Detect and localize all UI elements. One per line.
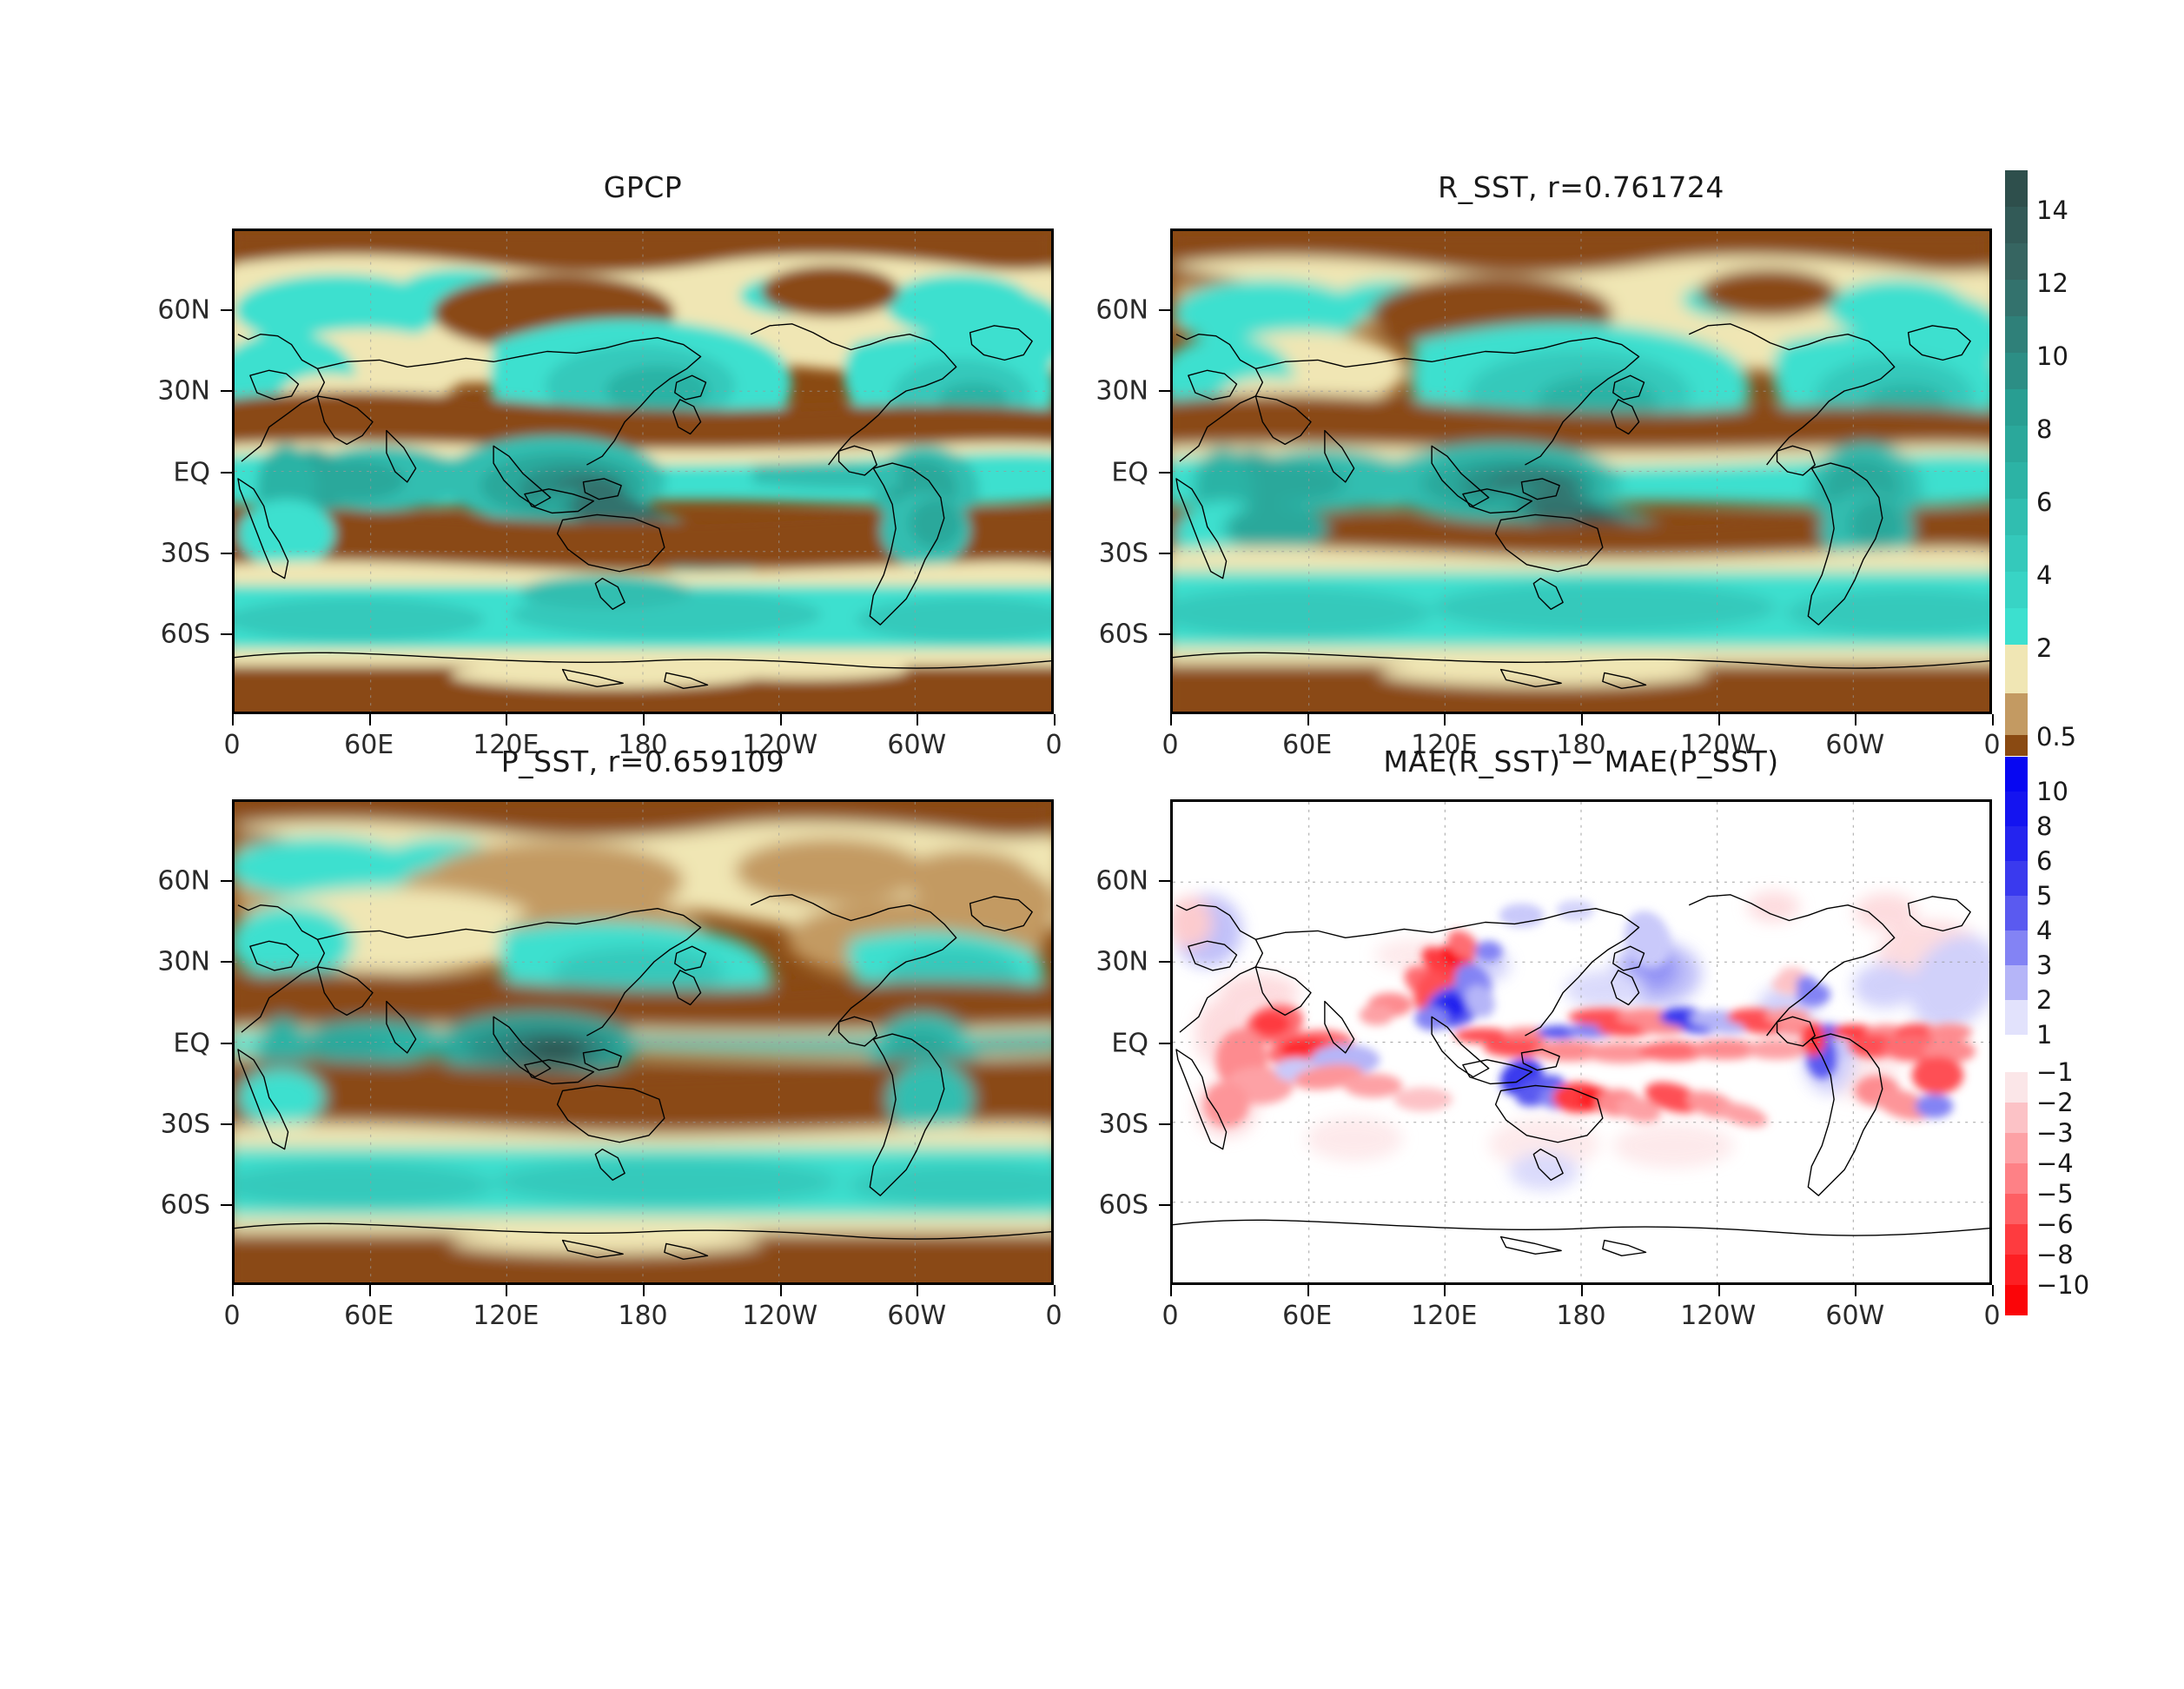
- ytick: [1159, 472, 1170, 474]
- cbar-seg-pos: [2005, 861, 2028, 896]
- cbar-seg-neg: [2005, 1133, 2028, 1163]
- ytick: [221, 961, 232, 963]
- xtick: [1581, 714, 1583, 725]
- cbar-seg-neg: [2005, 1255, 2028, 1285]
- xtick: [1581, 1285, 1583, 1296]
- cbar-seg-pos: [2005, 1000, 2028, 1035]
- xtick: [506, 714, 507, 725]
- xlabel-120e: 120E: [1411, 1301, 1477, 1331]
- map-mae-diff: [1170, 799, 1992, 1285]
- xlabel-360: 0: [1983, 1301, 2000, 1331]
- xtick: [1855, 1285, 1856, 1296]
- cbar-label-pos-10: 10: [2036, 777, 2068, 806]
- cbar-label-4: 4: [2036, 560, 2052, 590]
- ylabel-30s: 30S: [113, 539, 210, 569]
- cbar-seg-neg: [2005, 1163, 2028, 1194]
- ylabel-30n: 30N: [113, 376, 210, 407]
- ylabel-60s: 60S: [113, 619, 210, 650]
- cbar-label-neg-6: −6: [2036, 1209, 2074, 1239]
- cbar-label-6: 6: [2036, 487, 2052, 517]
- ytick: [221, 633, 232, 635]
- xtick: [780, 714, 782, 725]
- ylabel-eq: EQ: [113, 1028, 210, 1058]
- colorbar-diff: 10 8 6 5 4 3 2 1 −1 −2 −3 −4 −5 −6 −8 −1…: [2005, 757, 2028, 1315]
- xlabel-180: 180: [618, 1301, 667, 1331]
- cbar-seg: [2005, 207, 2028, 243]
- ytick: [221, 309, 232, 311]
- cbar-seg-neg: [2005, 1194, 2028, 1224]
- ytick: [221, 390, 232, 392]
- cbar-label-12: 12: [2036, 268, 2068, 298]
- ylabel-60s: 60S: [113, 1190, 210, 1221]
- cbar-label-neg-3: −3: [2036, 1118, 2074, 1148]
- xtick: [232, 1285, 234, 1296]
- cbar-label-neg-10: −10: [2036, 1270, 2089, 1300]
- xtick: [1444, 714, 1446, 725]
- cbar-seg-neg: [2005, 1285, 2028, 1315]
- ytick: [221, 1043, 232, 1044]
- cbar-seg-pos: [2005, 792, 2028, 826]
- xtick: [232, 714, 234, 725]
- map-r-sst: [1170, 229, 1992, 714]
- ytick: [1159, 553, 1170, 554]
- cbar-seg-neg: [2005, 1072, 2028, 1103]
- xlabel-60w: 60W: [1825, 1301, 1884, 1331]
- panel-p-sst-title: P_SST, r=0.659109: [232, 745, 1054, 778]
- cbar-seg: [2005, 608, 2028, 645]
- ytick: [221, 1123, 232, 1125]
- ytick: [1159, 309, 1170, 311]
- cbar-label-pos-4: 4: [2036, 916, 2052, 945]
- ytick: [221, 1204, 232, 1206]
- ytick: [1159, 1123, 1170, 1125]
- ylabel-eq: EQ: [113, 457, 210, 487]
- cbar-label-pos-1: 1: [2036, 1020, 2052, 1050]
- xlabel-120e: 120E: [473, 1301, 539, 1331]
- cbar-label-2: 2: [2036, 633, 2052, 663]
- xlabel-60w: 60W: [887, 1301, 946, 1331]
- ytick: [1159, 880, 1170, 882]
- cbar-seg-pos: [2005, 826, 2028, 861]
- panel-mae-diff-title: MAE(R_SST) − MAE(P_SST): [1170, 745, 1992, 778]
- cbar-seg: [2005, 170, 2028, 207]
- xtick: [506, 1285, 507, 1296]
- xlabel-360: 0: [1045, 1301, 1062, 1331]
- map-p-sst: [232, 799, 1054, 1285]
- xtick: [1855, 714, 1856, 725]
- colorbar-precip: 14 12 10 8 6 4 2 0.5: [2005, 170, 2028, 756]
- precip-field-r-sst: [1173, 231, 1989, 712]
- ytick: [221, 553, 232, 554]
- cbar-seg-neg: [2005, 1103, 2028, 1133]
- cbar-label-neg-2: −2: [2036, 1088, 2074, 1117]
- xtick: [1307, 1285, 1309, 1296]
- cbar-label-10: 10: [2036, 341, 2068, 371]
- ylabel-60n: 60N: [113, 866, 210, 897]
- ylabel-60n: 60N: [1051, 295, 1148, 326]
- cbar-label-neg-4: −4: [2036, 1149, 2074, 1178]
- xlabel-60e: 60E: [344, 1301, 394, 1331]
- ytick: [221, 880, 232, 882]
- xtick: [1170, 714, 1172, 725]
- xtick: [1718, 1285, 1720, 1296]
- xtick: [643, 1285, 645, 1296]
- cbar-seg: [2005, 353, 2028, 389]
- ytick: [1159, 1043, 1170, 1044]
- ytick: [1159, 961, 1170, 963]
- ytick: [1159, 390, 1170, 392]
- xtick: [369, 1285, 371, 1296]
- cbar-seg: [2005, 693, 2028, 735]
- cbar-seg: [2005, 535, 2028, 572]
- cbar-seg: [2005, 426, 2028, 462]
- cbar-label-neg-1: −1: [2036, 1057, 2074, 1087]
- cbar-seg-pos: [2005, 757, 2028, 792]
- ylabel-30n: 30N: [113, 947, 210, 977]
- ylabel-60s: 60S: [1051, 1190, 1148, 1221]
- xtick: [917, 1285, 918, 1296]
- cbar-seg: [2005, 462, 2028, 499]
- xtick: [1992, 714, 1994, 725]
- ylabel-60n: 60N: [1051, 866, 1148, 897]
- xtick: [1718, 714, 1720, 725]
- ylabel-30s: 30S: [1051, 1109, 1148, 1140]
- cbar-seg-pos: [2005, 965, 2028, 1000]
- cbar-seg: [2005, 735, 2028, 756]
- xtick: [1054, 1285, 1056, 1296]
- cbar-seg: [2005, 645, 2028, 693]
- xlabel-120w: 120W: [1680, 1301, 1756, 1331]
- mae-diff-field: [1173, 802, 1989, 1282]
- xlabel-0: 0: [223, 1301, 240, 1331]
- ylabel-60n: 60N: [113, 295, 210, 326]
- cbar-label-neg-5: −5: [2036, 1179, 2074, 1209]
- cbar-seg-pos: [2005, 896, 2028, 931]
- xtick: [369, 714, 371, 725]
- ylabel-30n: 30N: [1051, 947, 1148, 977]
- cbar-label-8: 8: [2036, 414, 2052, 444]
- map-gpcp: [232, 229, 1054, 714]
- cbar-label-pos-8: 8: [2036, 811, 2052, 841]
- ylabel-30n: 30N: [1051, 376, 1148, 407]
- cbar-seg: [2005, 499, 2028, 535]
- xtick: [1992, 1285, 1994, 1296]
- cbar-label-neg-8: −8: [2036, 1240, 2074, 1269]
- cbar-label-pos-2: 2: [2036, 985, 2052, 1015]
- cbar-seg: [2005, 243, 2028, 280]
- ylabel-eq: EQ: [1051, 457, 1148, 487]
- cbar-label-pos-5: 5: [2036, 881, 2052, 911]
- ylabel-30s: 30S: [1051, 539, 1148, 569]
- cbar-label-14: 14: [2036, 195, 2068, 225]
- cbar-seg-neg: [2005, 1224, 2028, 1255]
- xlabel-60e: 60E: [1282, 1301, 1332, 1331]
- panel-gpcp-title: GPCP: [232, 170, 1054, 204]
- cbar-label-pos-3: 3: [2036, 950, 2052, 980]
- cbar-seg: [2005, 316, 2028, 353]
- ytick: [1159, 1204, 1170, 1206]
- ylabel-30s: 30S: [113, 1109, 210, 1140]
- ylabel-60s: 60S: [1051, 619, 1148, 650]
- cbar-seg: [2005, 572, 2028, 608]
- xlabel-0: 0: [1161, 1301, 1178, 1331]
- xtick: [1170, 1285, 1172, 1296]
- ylabel-eq: EQ: [1051, 1028, 1148, 1058]
- xlabel-180: 180: [1556, 1301, 1605, 1331]
- precip-field-gpcp: [235, 231, 1051, 712]
- xtick: [1444, 1285, 1446, 1296]
- ytick: [221, 472, 232, 474]
- panel-r-sst-title: R_SST, r=0.761724: [1170, 170, 1992, 204]
- cbar-label-pos-6: 6: [2036, 846, 2052, 876]
- ytick: [1159, 633, 1170, 635]
- xtick: [1054, 714, 1056, 725]
- xtick: [1307, 714, 1309, 725]
- xtick: [643, 714, 645, 725]
- cbar-label-0p5: 0.5: [2036, 722, 2076, 752]
- xlabel-120w: 120W: [742, 1301, 817, 1331]
- xtick: [917, 714, 918, 725]
- precip-field-p-sst: [235, 802, 1051, 1282]
- cbar-seg-pos: [2005, 931, 2028, 965]
- xtick: [780, 1285, 782, 1296]
- cbar-seg: [2005, 280, 2028, 316]
- cbar-seg: [2005, 389, 2028, 426]
